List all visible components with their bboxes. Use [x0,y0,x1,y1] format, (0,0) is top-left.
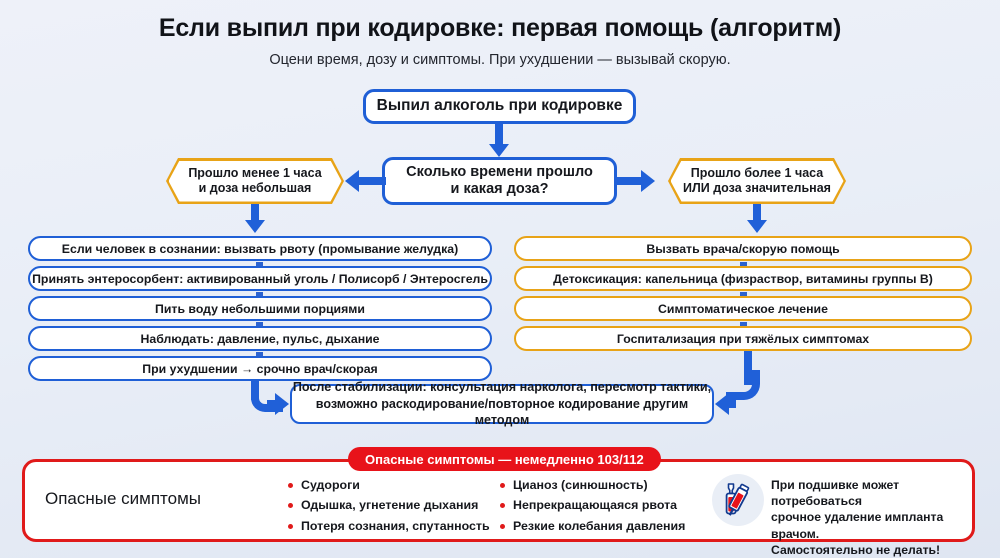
question-line-1: Сколько времени прошло [406,164,593,181]
step-left-1: Если человек в сознании: вызвать рвоту (… [28,236,492,261]
list-item: Судороги [288,479,490,491]
node-branch-right: Прошло более 1 часа ИЛИ доза значительна… [668,158,846,204]
bullet-dot-icon [500,524,505,529]
bullet-dot-icon [288,483,293,488]
symptom-label: Непрекращающаяся рвота [513,499,677,511]
step-left-2: Принять энтеросорбент: активированный уг… [28,266,492,291]
merge-line-1: После стабилизации: консультация нарколо… [293,379,711,395]
branch-left-line-1: Прошло менее 1 часа [188,166,321,181]
branch-right-line-2: ИЛИ доза значительная [683,181,831,196]
symptom-label: Потеря сознания, спутанность [301,520,490,532]
list-item: Резкие колебания давления [500,520,685,532]
ampoule-syringe-icon [712,474,764,526]
bullet-dot-icon [288,524,293,529]
note-line-3: Самостоятельно не делать! [771,543,940,557]
infographic-canvas: Если выпил при кодировке: первая помощь … [0,0,1000,558]
step-right-1: Вызвать врача/скорую помощь [514,236,972,261]
symptom-column-2: Цианоз (синюшность) Непрекращающаяся рво… [500,479,685,540]
step-left-5: При ухудшении → срочно врач/скорая [28,356,492,381]
bullet-dot-icon [288,503,293,508]
merge-line-2: возможно раскодирование/повторное кодиро… [292,396,712,429]
symptom-label: Цианоз (синюшность) [513,479,648,491]
list-item: Одышка, угнетение дыхания [288,499,490,511]
step-right-4: Госпитализация при тяжёлых симптомах [514,326,972,351]
step-right-2: Детоксикация: капельница (физраствор, ви… [514,266,972,291]
question-line-2: и какая доза? [451,181,549,198]
note-line-2: срочное удаление импланта врачом. [771,510,943,540]
node-merge: После стабилизации: консультация нарколо… [290,384,714,424]
node-branch-left: Прошло менее 1 часа и доза небольшая [166,158,344,204]
node-question: Сколько времени прошло и какая доза? [382,157,617,205]
page-title: Если выпил при кодировке: первая помощь … [0,14,1000,43]
symptom-label: Судороги [301,479,360,491]
step-left-4: Наблюдать: давление, пульс, дыхание [28,326,492,351]
symptom-label: Одышка, угнетение дыхания [301,499,478,511]
implant-warning-note: При подшивке может потребоваться срочное… [771,477,966,558]
page-subtitle: Оцени время, дозу и симптомы. При ухудше… [0,52,1000,68]
symptom-column-1: Судороги Одышка, угнетение дыхания Потер… [288,479,490,540]
bullet-dot-icon [500,483,505,488]
list-item: Потеря сознания, спутанность [288,520,490,532]
step-left-3: Пить воду небольшими порциями [28,296,492,321]
list-item: Цианоз (синюшность) [500,479,685,491]
danger-banner: Опасные симптомы — немедленно 103/112 [348,447,661,471]
danger-panel-title: Опасные симптомы [45,489,201,509]
symptom-label: Резкие колебания давления [513,520,685,532]
branch-right-line-1: Прошло более 1 часа [691,166,823,181]
node-start: Выпил алкоголь при кодировке [363,89,636,124]
list-item: Непрекращающаяся рвота [500,499,685,511]
bullet-dot-icon [500,503,505,508]
note-line-1: При подшивке может потребоваться [771,478,899,508]
branch-left-line-2: и доза небольшая [199,181,312,196]
step-right-3: Симптоматическое лечение [514,296,972,321]
